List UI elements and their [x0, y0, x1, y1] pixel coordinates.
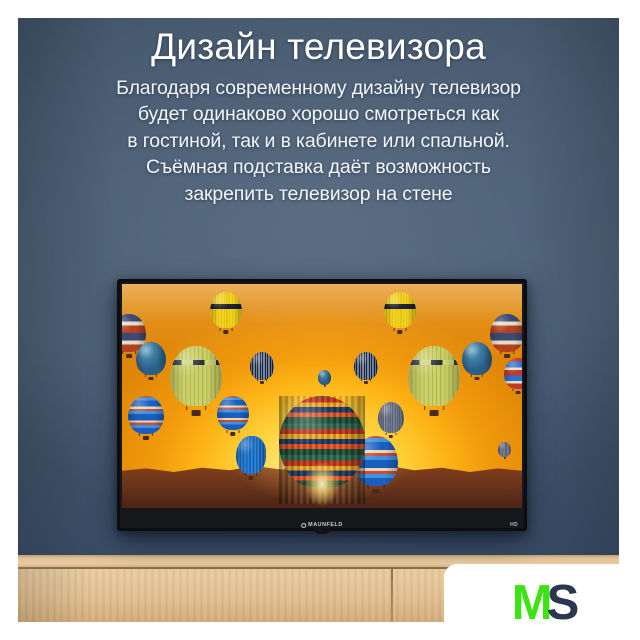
brand-name-label: MAUNFELD — [308, 523, 343, 528]
balloon — [462, 342, 492, 380]
balloon-envelope — [378, 402, 404, 433]
balloon-basket — [230, 432, 235, 436]
balloon — [136, 342, 166, 380]
balloon-basket — [143, 436, 149, 440]
balloon-envelope — [217, 396, 249, 430]
poster-canvas: Дизайн телевизора Благодаря современному… — [0, 0, 640, 640]
balloon-basket — [248, 476, 253, 480]
tv-screen — [122, 284, 522, 508]
promo-description: Благодаря современному дизайну телевизор… — [39, 75, 599, 208]
balloon — [250, 352, 274, 384]
promo-text-block: Дизайн телевизора Благодаря современному… — [18, 28, 619, 207]
balloon-envelope — [354, 352, 378, 380]
balloon-envelope — [318, 370, 331, 385]
description-line: в гостиной, так и в кабинете или спально… — [39, 128, 599, 155]
balloon — [217, 396, 249, 436]
watermark-letter-s: S — [547, 579, 579, 628]
balloon-basket — [126, 354, 132, 358]
balloon-basket — [223, 330, 228, 334]
description-line: Съёмная подставка даёт возможность — [39, 154, 599, 181]
balloon-basket — [148, 377, 153, 380]
balloon-envelope — [408, 346, 460, 406]
balloon — [128, 396, 164, 440]
balloon-envelope — [136, 342, 166, 375]
watermark-letter-m: M — [512, 579, 550, 628]
balloon-envelope — [490, 314, 522, 352]
television-product: MAUNFELD HD — [117, 279, 527, 531]
brand-mark-icon — [301, 523, 306, 528]
balloon-basket — [503, 457, 505, 459]
balloon — [210, 292, 242, 334]
balloon-envelope — [462, 342, 492, 375]
hd-badge: HD — [510, 523, 518, 528]
balloon-envelope — [504, 358, 522, 389]
sun-glow — [299, 454, 345, 508]
watermark-logo: M S — [512, 579, 579, 628]
balloon-basket — [192, 410, 201, 416]
page-title: Дизайн телевизора — [18, 28, 619, 67]
balloon-basket — [323, 385, 325, 387]
balloon-basket — [372, 489, 379, 494]
balloon — [318, 370, 331, 387]
balloon — [408, 346, 460, 416]
balloon — [498, 442, 511, 459]
balloon — [378, 402, 404, 438]
balloon-envelope — [498, 442, 511, 457]
balloon-envelope — [128, 396, 164, 434]
balloon — [490, 314, 522, 358]
balloon — [354, 352, 378, 384]
balloon-envelope — [250, 352, 274, 380]
balloon — [236, 436, 266, 480]
description-line: закрепить телевизор на стене — [39, 181, 599, 208]
balloon-envelope — [210, 292, 242, 328]
balloon — [504, 358, 522, 394]
balloon-envelope — [384, 292, 416, 328]
balloon-basket — [430, 410, 439, 416]
balloon-basket — [260, 381, 264, 384]
balloon-basket — [397, 330, 402, 334]
balloon-basket — [364, 381, 368, 384]
balloon — [170, 346, 222, 416]
description-line: будет одинаково хорошо смотреться как — [39, 101, 599, 128]
balloon-basket — [474, 377, 479, 380]
balloon-basket — [516, 391, 521, 394]
balloon-envelope — [170, 346, 222, 406]
balloon-envelope — [236, 436, 266, 474]
description-line: Благодаря современному дизайну телевизор — [39, 75, 599, 102]
tv-brand-logo: MAUNFELD — [301, 523, 343, 528]
product-scene-photo: Дизайн телевизора Благодаря современному… — [18, 18, 619, 622]
watermark-logo-panel: M S — [444, 564, 640, 640]
balloon — [384, 292, 416, 334]
